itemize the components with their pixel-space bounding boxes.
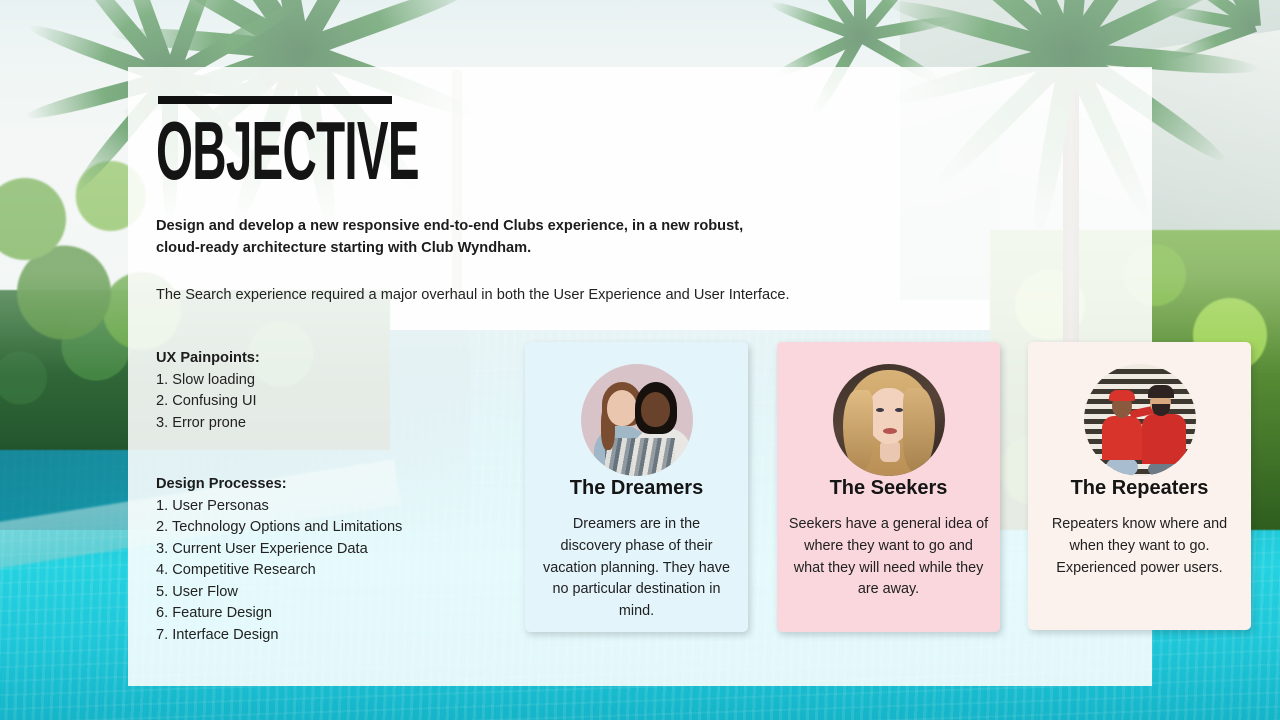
objective-lead-text: Design and develop a new responsive end-… <box>156 215 781 259</box>
list-item: 3. Current User Experience Data <box>156 539 402 561</box>
list-item: 2. Confusing UI <box>156 391 260 413</box>
ux-painpoints-heading: UX Painpoints: <box>156 348 260 370</box>
avatar <box>833 364 945 476</box>
list-item: 5. User Flow <box>156 582 402 604</box>
design-processes-block: Design Processes: 1. User Personas 2. Te… <box>156 474 402 646</box>
list-item: 3. Error prone <box>156 413 260 435</box>
list-item: 4. Competitive Research <box>156 560 402 582</box>
persona-card-repeaters[interactable]: The Repeaters Repeaters know where and w… <box>1028 342 1251 630</box>
persona-card-seekers[interactable]: The Seekers Seekers have a general idea … <box>777 342 1000 632</box>
list-item: 2. Technology Options and Limitations <box>156 517 402 539</box>
persona-description: Repeaters know where and when they want … <box>1039 514 1240 579</box>
title-rule <box>158 96 392 104</box>
persona-title: The Repeaters <box>1028 477 1251 500</box>
avatar <box>1084 364 1196 476</box>
persona-card-dreamers[interactable]: The Dreamers Dreamers are in the discove… <box>525 342 748 632</box>
list-item: 7. Interface Design <box>156 625 402 647</box>
persona-description: Dreamers are in the discovery phase of t… <box>541 514 732 623</box>
list-item: 1. Slow loading <box>156 370 260 392</box>
objective-paragraph: The Search experience required a major o… <box>156 284 801 307</box>
persona-title: The Dreamers <box>525 477 748 500</box>
ux-painpoints-block: UX Painpoints: 1. Slow loading 2. Confus… <box>156 348 260 434</box>
design-processes-heading: Design Processes: <box>156 474 402 496</box>
persona-description: Seekers have a general idea of where the… <box>788 514 989 601</box>
persona-title: The Seekers <box>777 477 1000 500</box>
list-item: 1. User Personas <box>156 496 402 518</box>
avatar <box>581 364 693 476</box>
page-title: OBJECTIVE <box>156 109 419 192</box>
list-item: 6. Feature Design <box>156 603 402 625</box>
